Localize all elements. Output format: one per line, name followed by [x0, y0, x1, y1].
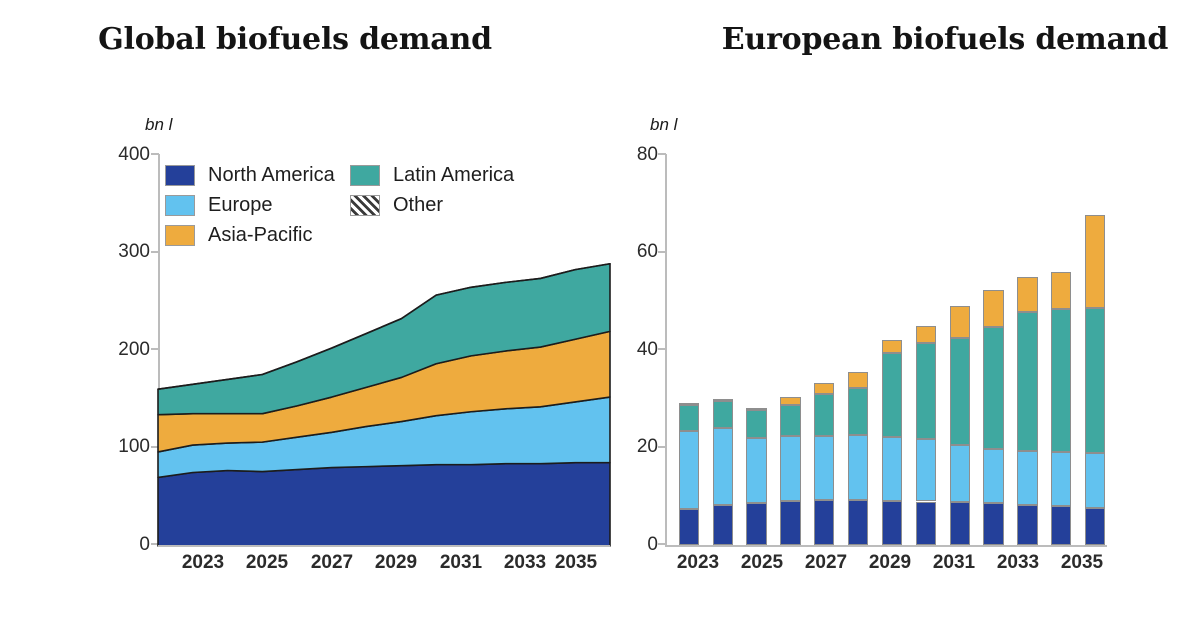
bar-segment-saf-2026: [780, 397, 800, 404]
bar-segment-biodiesel-2034: [1051, 452, 1071, 506]
bar-segment-renewable-diesel-2025: [746, 410, 766, 438]
bar-segment-saf-2025: [746, 408, 766, 410]
xtick-label-global-2: 2027: [296, 552, 368, 574]
xtick-label-european-0: 2023: [662, 552, 734, 574]
legend-item-other[interactable]: Other: [350, 190, 535, 220]
legend-item-asia-pacific[interactable]: Asia-Pacific: [165, 220, 350, 250]
xtick-label-european-2: 2027: [790, 552, 862, 574]
bar-segment-ethanol-2028: [848, 500, 868, 545]
ytick-label-european-2: 40: [610, 339, 658, 361]
bar-segment-renewable-diesel-2030: [916, 343, 936, 440]
bar-segment-saf-2031: [950, 306, 970, 338]
bar-segment-saf-2034: [1051, 272, 1071, 309]
legend-item-europe[interactable]: Europe: [165, 190, 350, 220]
xtick-label-european-6: 2035: [1046, 552, 1118, 574]
bar-segment-renewable-diesel-2033: [1017, 312, 1037, 451]
bar-segment-biodiesel-2032: [983, 449, 1003, 503]
legend-item-latin-america[interactable]: Latin America: [350, 160, 535, 190]
bar-segment-biodiesel-2025: [746, 438, 766, 503]
bar-segment-ethanol-2031: [950, 502, 970, 545]
xtick-label-global-0: 2023: [167, 552, 239, 574]
xtick-label-global-6: 2035: [540, 552, 612, 574]
bar-segment-saf-2029: [882, 340, 902, 353]
ytick-label-european-4: 0: [610, 534, 658, 556]
xtick-label-european-5: 2033: [982, 552, 1054, 574]
bar-segment-biodiesel-2027: [814, 436, 834, 501]
bar-segment-biodiesel-2028: [848, 435, 868, 500]
page-title-global: Global biofuels demand: [0, 22, 605, 57]
bar-segment-saf-2033: [1017, 277, 1037, 312]
ytick-label-global-3: 100: [95, 436, 150, 458]
legend-global: North America Latin America Europe Other…: [165, 160, 535, 250]
ytick-label-european-0: 80: [610, 144, 658, 166]
bar-segment-saf-2030: [916, 326, 936, 343]
legend-item-north-america[interactable]: North America: [165, 160, 350, 190]
bar-segment-ethanol-2034: [1051, 506, 1071, 545]
bar-chart-european: [667, 154, 1107, 545]
xtick-label-global-3: 2029: [360, 552, 432, 574]
ytick-mark-european-3: [658, 446, 666, 448]
page-title-european: European biofuels demand: [655, 22, 1200, 57]
xtick-label-european-1: 2025: [726, 552, 798, 574]
unit-label-european: bn l: [650, 115, 677, 135]
bar-segment-biodiesel-2031: [950, 445, 970, 502]
bar-segment-ethanol-2035: [1085, 508, 1105, 545]
ytick-label-global-0: 400: [95, 144, 150, 166]
area-series-north-america: [158, 463, 610, 546]
bar-segment-ethanol-2023: [679, 509, 699, 545]
bar-segment-renewable-diesel-2026: [780, 405, 800, 436]
bar-segment-biodiesel-2023: [679, 431, 699, 509]
xtick-label-european-4: 2031: [918, 552, 990, 574]
legend-swatch-icon-other: [350, 195, 380, 216]
legend-swatch-icon-europe: [165, 195, 195, 216]
legend-label-other: Other: [393, 194, 443, 217]
figure-root: Global biofuels demand bn l 400 300 200 …: [0, 0, 1200, 633]
bar-segment-biodiesel-2026: [780, 436, 800, 501]
x-axis-line-global: [158, 545, 610, 547]
ytick-label-global-2: 200: [95, 339, 150, 361]
legend-swatch-icon-asia-pacific: [165, 225, 195, 246]
bar-segment-ethanol-2026: [780, 501, 800, 545]
bar-segment-renewable-diesel-2029: [882, 353, 902, 437]
ytick-mark-european-0: [658, 153, 666, 155]
bar-segment-renewable-diesel-2034: [1051, 309, 1071, 452]
legend-label-north-america: North America: [208, 164, 335, 187]
bar-segment-ethanol-2024: [713, 505, 733, 545]
legend-swatch-icon-north-america: [165, 165, 195, 186]
bar-segment-biodiesel-2024: [713, 428, 733, 506]
bar-segment-ethanol-2029: [882, 501, 902, 545]
ytick-label-european-3: 20: [610, 436, 658, 458]
ytick-label-global-4: 0: [95, 534, 150, 556]
bar-segment-renewable-diesel-2035: [1085, 308, 1105, 452]
chart-panel-european: European biofuels demand bn l 80 60 40 2…: [620, 0, 1200, 633]
ytick-mark-european-2: [658, 348, 666, 350]
bar-segment-biodiesel-2033: [1017, 451, 1037, 505]
xtick-label-global-4: 2031: [425, 552, 497, 574]
legend-label-europe: Europe: [208, 194, 273, 217]
bar-segment-renewable-diesel-2032: [983, 327, 1003, 450]
bar-segment-renewable-diesel-2031: [950, 338, 970, 445]
legend-label-latin-america: Latin America: [393, 164, 514, 187]
bar-segment-ethanol-2032: [983, 503, 1003, 545]
bar-segment-saf-2027: [814, 383, 834, 394]
bar-segment-saf-2024: [713, 399, 733, 401]
ytick-label-european-1: 60: [610, 241, 658, 263]
bar-segment-saf-2032: [983, 290, 1003, 326]
bar-segment-saf-2035: [1085, 215, 1105, 309]
unit-label-global: bn l: [145, 115, 172, 135]
legend-label-asia-pacific: Asia-Pacific: [208, 224, 312, 247]
xtick-label-european-3: 2029: [854, 552, 926, 574]
legend-swatch-icon-latin-america: [350, 165, 380, 186]
bar-segment-saf-2023: [679, 403, 699, 405]
ytick-label-global-1: 300: [95, 241, 150, 263]
bar-segment-renewable-diesel-2028: [848, 388, 868, 435]
bar-segment-ethanol-2027: [814, 500, 834, 545]
bar-segment-biodiesel-2035: [1085, 453, 1105, 508]
ytick-mark-european-1: [658, 251, 666, 253]
x-axis-line-european: [665, 545, 1107, 547]
xtick-label-global-1: 2025: [231, 552, 303, 574]
bar-segment-saf-2028: [848, 372, 868, 388]
bar-segment-ethanol-2025: [746, 503, 766, 545]
bar-segment-renewable-diesel-2024: [713, 401, 733, 428]
bar-segment-ethanol-2033: [1017, 505, 1037, 545]
bar-segment-renewable-diesel-2027: [814, 394, 834, 435]
bar-segment-biodiesel-2029: [882, 437, 902, 501]
bar-segment-biodiesel-2030: [916, 439, 936, 501]
bar-segment-ethanol-2030: [916, 502, 936, 545]
bar-segment-renewable-diesel-2023: [679, 405, 699, 431]
chart-panel-global: Global biofuels demand bn l 400 300 200 …: [0, 0, 620, 633]
